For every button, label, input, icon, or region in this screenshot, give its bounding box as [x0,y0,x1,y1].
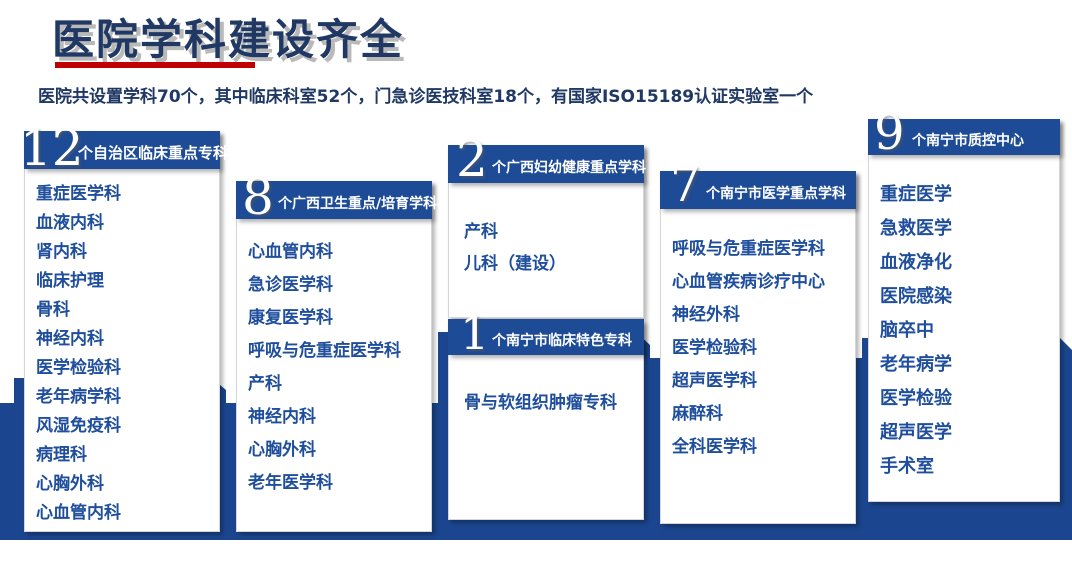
card-item-list: 心血管内科 急诊医学科 康复医学科 呼吸与危重症医学科 产科 神经内科 心胸外科… [248,236,438,500]
card-item-list: 重症医学 急救医学 血液净化 医院感染 脑卒中 老年病学 医学检验 超声医学 手… [880,178,1060,484]
card-heading: 个广西妇幼健康重点学科 [492,157,646,177]
card-item-list: 产科 儿科（建设） [464,216,644,280]
list-item: 儿科（建设） [464,248,644,280]
list-item: 急救医学 [880,212,1060,246]
card-header[interactable]: 2 个广西妇幼健康重点学科 [448,145,644,183]
list-item: 全科医学科 [672,431,868,464]
list-item: 骨与软组织肿瘤专科 [464,388,644,418]
list-item: 心血管疾病诊疗中心 [672,266,868,299]
card-number: 1 [460,310,489,356]
list-item: 麻醉科 [672,398,868,431]
list-item: 心血管内科 [36,499,216,528]
list-item: 老年病学 [880,348,1060,382]
card-number: 8 [242,172,274,222]
list-item: 神经内科 [36,325,216,354]
card-heading: 个南宁市临床特色专科 [492,330,632,350]
card-item-list: 骨与软组织肿瘤专科 [464,388,644,418]
list-item: 医学检验科 [36,354,216,383]
list-item: 血液净化 [880,246,1060,280]
list-item: 医学检验 [880,382,1060,416]
list-item: 重症医学 [880,178,1060,212]
list-item: 急诊医学科 [248,269,438,302]
list-item: 心血管内科 [248,236,438,269]
card-heading: 个自治区临床重点专科 [78,142,228,163]
list-item: 临床护理 [36,267,216,296]
list-item: 老年医学科 [248,467,438,500]
page-title: 医院学科建设齐全 [52,6,404,67]
list-item: 老年病学科 [36,383,216,412]
card-header[interactable]: 7 个南宁市医学重点学科 [660,171,856,209]
card-header[interactable]: 9 个南宁市质控中心 [868,119,1060,155]
list-item: 超声医学 [880,416,1060,450]
page-subtitle: 医院共设置学科70个，其中临床科室52个，门急诊医技科室18个，有国家ISO15… [38,82,813,107]
card-header[interactable]: 8 个广西卫生重点/培育学科 [236,181,432,219]
list-item: 心胸外科 [36,470,216,499]
list-item: 呼吸与危重症医学科 [672,233,868,266]
list-item: 产科 [248,368,438,401]
card-item-list: 呼吸与危重症医学科 心血管疾病诊疗中心 神经外科 医学检验科 超声医学科 麻醉科… [672,233,868,464]
card-number: 9 [874,109,905,157]
card-header[interactable]: 1 个南宁市临床特色专科 [448,319,644,355]
list-item: 神经外科 [672,299,868,332]
list-item: 脑卒中 [880,314,1060,348]
list-item: 血液内科 [36,209,216,238]
list-item: 肾内科 [36,238,216,267]
list-item: 产科 [464,216,644,248]
list-item: 病理科 [36,441,216,470]
card-number: 2 [456,134,488,184]
card-number: 7 [670,161,701,209]
list-item: 康复医学科 [248,302,438,335]
card-item-list: 重症医学科 血液内科 肾内科 临床护理 骨科 神经内科 医学检验科 老年病学科 … [36,180,216,528]
card-header[interactable]: 12 个自治区临床重点专科 [24,131,220,169]
card-heading: 个南宁市质控中心 [912,130,1024,150]
list-item: 神经内科 [248,401,438,434]
title-underline [55,62,255,68]
card-heading: 个南宁市医学重点学科 [706,183,846,203]
list-item: 医院感染 [880,280,1060,314]
list-item: 呼吸与危重症医学科 [248,335,438,368]
list-item: 手术室 [880,450,1060,484]
card-number: 12 [20,123,84,173]
list-item: 医学检验科 [672,332,868,365]
list-item: 心胸外科 [248,434,438,467]
list-item: 超声医学科 [672,365,868,398]
list-item: 风湿免疫科 [36,412,216,441]
list-item: 骨科 [36,296,216,325]
card-heading: 个广西卫生重点/培育学科 [278,193,437,213]
list-item: 重症医学科 [36,180,216,209]
slide-canvas: 医院学科建设齐全 医院共设置学科70个，其中临床科室52个，门急诊医技科室18个… [0,0,1072,563]
